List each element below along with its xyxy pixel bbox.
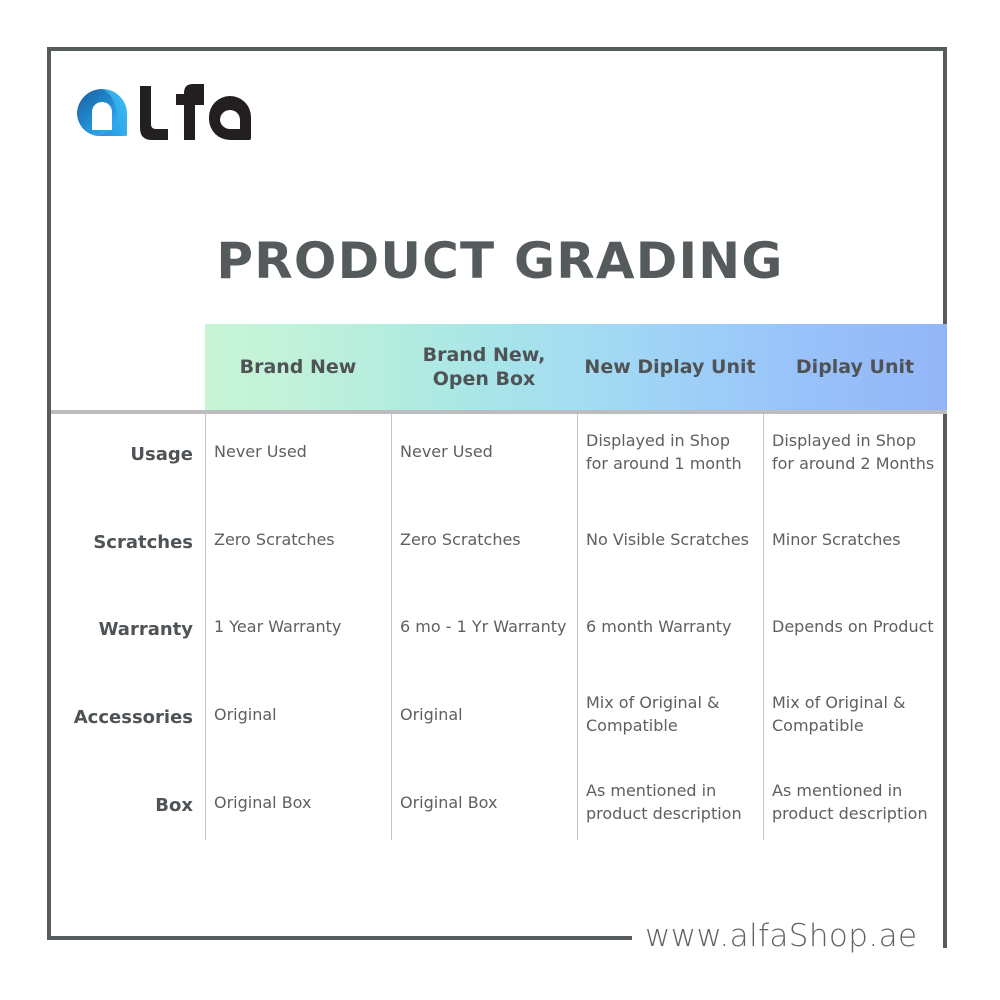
column-header-brand-new: Brand New [205,324,391,410]
cell-scratches-brand-new: Zero Scratches [214,528,390,551]
row-label-box: Box [51,795,193,816]
cell-accessories-brand-new: Original [214,703,390,726]
row-label-scratches: Scratches [51,532,193,553]
cell-box-brand-new: Original Box [214,791,390,814]
cell-scratches-display-unit: Minor Scratches [772,528,952,551]
table-header-rule [51,410,947,414]
alfa-droplet-logo-icon [68,84,258,148]
cell-warranty-brand-new-open-box: 6 mo - 1 Yr Warranty [400,615,584,638]
cell-scratches-new-display-unit: No Visible Scratches [586,528,770,551]
alfa-logo[interactable] [68,84,258,148]
site-url[interactable]: www.alfaShop.ae [645,918,917,954]
cell-accessories-display-unit: Mix of Original &Compatible [772,691,952,737]
cell-usage-brand-new: Never Used [214,440,390,463]
cell-usage-brand-new-open-box: Never Used [400,440,576,463]
column-header-label: New Diplay Unit [584,355,755,379]
column-header-brand-new-open-box: Brand New,Open Box [391,324,577,410]
column-header-label: Brand New,Open Box [423,343,546,392]
cell-warranty-brand-new: 1 Year Warranty [214,615,390,638]
page-title: PRODUCT GRADING [0,232,1000,290]
frame-right-border-stub [943,905,947,948]
cell-box-brand-new-open-box: Original Box [400,791,576,814]
column-header-label: Diplay Unit [796,355,914,379]
cell-usage-new-display-unit: Displayed in Shopfor around 1 month [586,429,766,475]
cell-warranty-new-display-unit: 6 month Warranty [586,615,766,638]
cell-box-display-unit: As mentioned inproduct description [772,779,952,825]
row-label-usage: Usage [51,444,193,465]
row-label-warranty: Warranty [51,619,193,640]
frame-bottom-rule [47,936,632,940]
cell-accessories-new-display-unit: Mix of Original &Compatible [586,691,766,737]
column-header-new-display-unit: New Diplay Unit [577,324,763,410]
column-divider-2 [391,414,392,840]
column-header-label: Brand New [240,355,357,379]
cell-usage-display-unit: Displayed in Shopfor around 2 Months [772,429,952,475]
cell-accessories-brand-new-open-box: Original [400,703,576,726]
cell-warranty-display-unit: Depends on Product [772,615,954,638]
column-divider-1 [205,414,206,840]
row-label-accessories: Accessories [51,707,193,728]
cell-box-new-display-unit: As mentioned inproduct description [586,779,766,825]
product-grading-table: Brand New Brand New,Open Box New Diplay … [51,324,947,840]
cell-scratches-brand-new-open-box: Zero Scratches [400,528,576,551]
column-header-display-unit: Diplay Unit [763,324,947,410]
